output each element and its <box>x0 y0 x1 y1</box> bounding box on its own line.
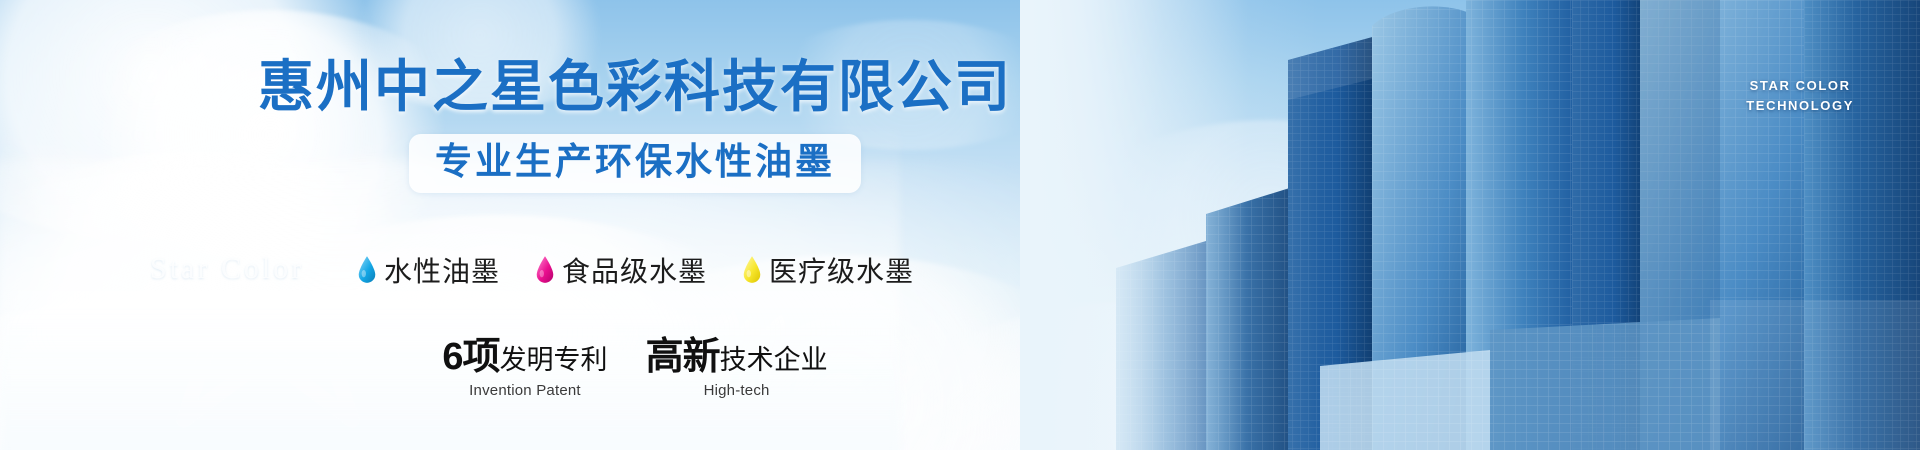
brand-mark: STAR COLOR TECHNOLOGY <box>1746 76 1854 116</box>
banner-content: 惠州中之星色彩科技有限公司 专业生产环保水性油墨 水性油 <box>0 0 1270 450</box>
badge-cn-line: 高新技术企业 <box>646 336 828 379</box>
badge-number: 高新 <box>646 336 720 378</box>
badge-invention-patent: 6项发明专利 Invention Patent <box>442 336 607 399</box>
brand-mark-line1: STAR COLOR <box>1746 76 1854 96</box>
badge-suffix: 技术企业 <box>720 345 828 375</box>
feature-item: 食品级水墨 <box>534 250 707 290</box>
building-center-curved <box>1372 6 1472 450</box>
brand-mark-line2: TECHNOLOGY <box>1746 96 1854 116</box>
water-drop-icon <box>741 255 763 285</box>
credential-badges: 6项发明专利 Invention Patent 高新技术企业 High-tech <box>0 336 1270 399</box>
promotional-banner: Star Color <box>0 0 1920 450</box>
feature-item: 水性油墨 <box>356 250 500 290</box>
water-drop-icon <box>356 255 378 285</box>
building-brand-tower <box>1640 0 1810 450</box>
badge-cn-line: 6项发明专利 <box>442 336 607 379</box>
feature-label: 水性油墨 <box>384 250 500 290</box>
badge-suffix: 发明专利 <box>500 345 608 375</box>
building-tall-slim <box>1288 36 1376 450</box>
building-right-edge <box>1804 0 1920 450</box>
glass-highlight <box>1710 300 1920 450</box>
badge-high-tech: 高新技术企业 High-tech <box>646 336 828 399</box>
feature-item: 医疗级水墨 <box>741 250 914 290</box>
water-drop-icon <box>534 255 556 285</box>
building-center-block <box>1466 0 1580 450</box>
feature-list: 水性油墨 食品级水墨 <box>0 250 1270 290</box>
feature-label: 食品级水墨 <box>562 250 707 290</box>
subtitle-pill: 专业生产环保水性油墨 <box>409 134 861 193</box>
badge-en-label: High-tech <box>646 382 828 399</box>
badge-en-label: Invention Patent <box>442 382 607 399</box>
badge-number: 6项 <box>442 336 499 378</box>
feature-label: 医疗级水墨 <box>769 250 914 290</box>
subtitle-container: 专业生产环保水性油墨 <box>0 134 1270 193</box>
building-foreground-low <box>1320 318 1720 450</box>
building-dark-flank <box>1572 0 1648 450</box>
company-title: 惠州中之星色彩科技有限公司 <box>0 58 1270 117</box>
